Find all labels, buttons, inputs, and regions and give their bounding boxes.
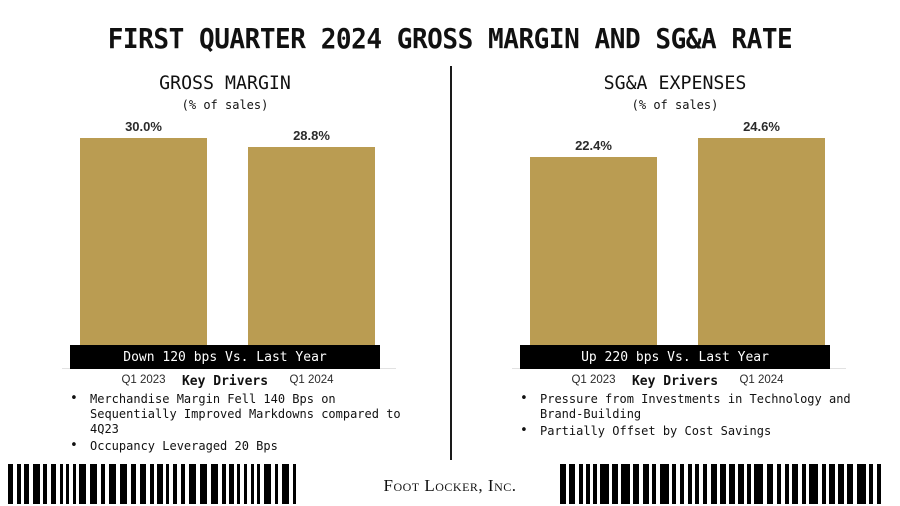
bar-value-label: 24.6% <box>698 119 825 134</box>
list-item: • Occupancy Leveraged 20 Bps <box>62 439 402 454</box>
list-item-text: Pressure from Investments in Technology … <box>540 392 851 421</box>
key-drivers-title: Key Drivers <box>0 374 450 389</box>
list-item: • Partially Offset by Cost Savings <box>512 424 852 439</box>
bar-value-label: 30.0% <box>80 119 207 134</box>
list-item: • Merchandise Margin Fell 140 Bps on Seq… <box>62 392 402 437</box>
list-item: • Pressure from Investments in Technolog… <box>512 392 852 422</box>
slide-root: FIRST QUARTER 2024 GROSS MARGIN AND SG&A… <box>0 0 900 506</box>
bar-value-label: 28.8% <box>248 128 375 143</box>
page-title: FIRST QUARTER 2024 GROSS MARGIN AND SG&A… <box>32 22 869 55</box>
comparison-banner: Up 220 bps Vs. Last Year <box>520 345 830 369</box>
chart-sga-expenses: 22.4% 24.6% Q1 2023 Q1 2024 <box>450 128 900 368</box>
company-logo: Foot Locker, Inc. <box>0 476 900 496</box>
panel-subtitle-gross-margin: (% of sales) <box>0 98 450 112</box>
panel-gross-margin: GROSS MARGIN (% of sales) 30.0% 28.8% Q1… <box>0 60 450 460</box>
comparison-banner-text: Down 120 bps Vs. Last Year <box>123 350 327 365</box>
panel-subtitle-sga-expenses: (% of sales) <box>450 98 900 112</box>
key-drivers-title: Key Drivers <box>450 374 900 389</box>
key-drivers-list: • Merchandise Margin Fell 140 Bps on Seq… <box>62 392 402 456</box>
chart-plot-area: 30.0% 28.8% <box>68 128 388 348</box>
comparison-banner: Down 120 bps Vs. Last Year <box>70 345 380 369</box>
bar <box>698 138 825 348</box>
list-item-text: Merchandise Margin Fell 140 Bps on Seque… <box>90 392 401 436</box>
slide-footer: Foot Locker, Inc. <box>0 460 900 506</box>
bar <box>530 157 657 348</box>
bullet-icon: • <box>520 423 528 438</box>
bar-value-label: 22.4% <box>530 138 657 153</box>
list-item-text: Partially Offset by Cost Savings <box>540 424 771 438</box>
list-item-text: Occupancy Leveraged 20 Bps <box>90 439 278 453</box>
bullet-icon: • <box>520 391 528 406</box>
bar <box>80 138 207 348</box>
panel-title-sga-expenses: SG&A EXPENSES <box>459 72 891 94</box>
bullet-icon: • <box>70 391 78 406</box>
comparison-banner-text: Up 220 bps Vs. Last Year <box>581 350 769 365</box>
chart-plot-area: 22.4% 24.6% <box>518 128 838 348</box>
panel-title-gross-margin: GROSS MARGIN <box>9 72 441 94</box>
bullet-icon: • <box>70 438 78 453</box>
key-drivers-list: • Pressure from Investments in Technolog… <box>512 392 852 441</box>
chart-gross-margin: 30.0% 28.8% Q1 2023 Q1 2024 <box>0 128 450 368</box>
bar <box>248 147 375 348</box>
panel-sga-expenses: SG&A EXPENSES (% of sales) 22.4% 24.6% Q… <box>450 60 900 460</box>
